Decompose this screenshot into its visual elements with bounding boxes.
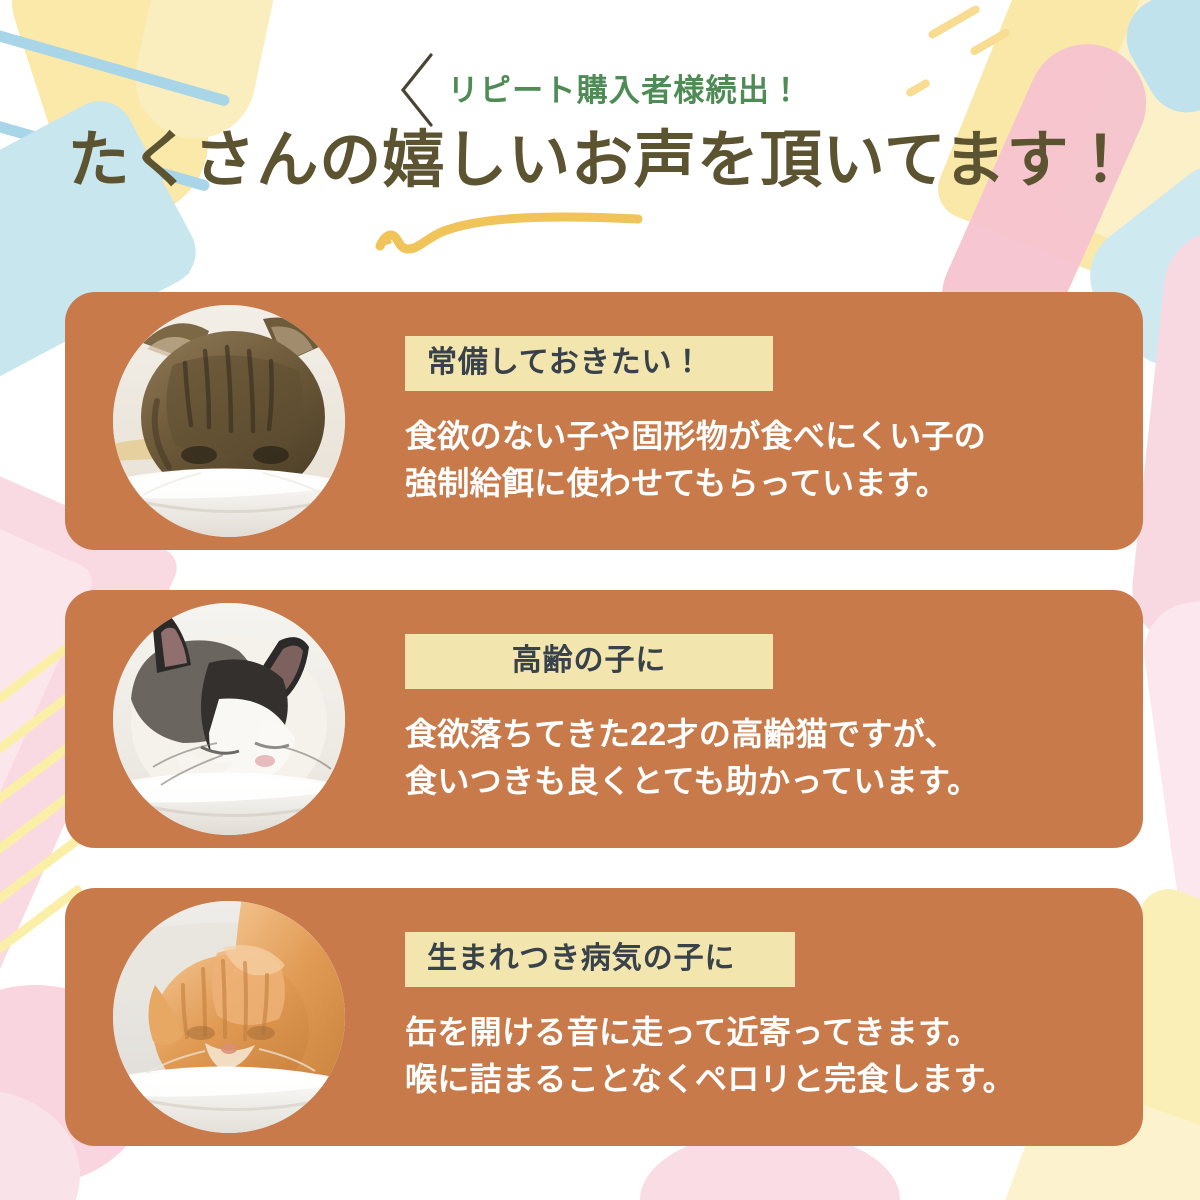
brown-tabby-cat-image — [113, 305, 345, 537]
testimonial-text-line: 食いつきも良くとても助かっています。 — [405, 758, 1103, 805]
testimonial-text: 缶を開ける音に走って近寄ってきます。 喉に詰まることなくペロリと完食します。 — [405, 1009, 1103, 1102]
testimonial-card: 高齢の子に 食欲落ちてきた22才の高齢猫ですが、 食いつきも良くとても助かってい… — [65, 590, 1143, 848]
orange-tabby-cat-image — [113, 901, 345, 1133]
testimonial-text-line: 食欲落ちてきた22才の高齢猫ですが、 — [405, 711, 1103, 758]
testimonial-badge: 生まれつき病気の子に — [405, 932, 795, 988]
testimonial-text: 食欲のない子や固形物が食べにくい子の 強制給餌に使わせてもらっています。 — [405, 413, 1103, 506]
testimonial-badge: 高齢の子に — [405, 634, 773, 690]
testimonial-text-line: 強制給餌に使わせてもらっています。 — [405, 460, 1103, 507]
cat-photo-black-and-white — [113, 603, 345, 835]
black-and-white-cat-image — [113, 603, 345, 835]
testimonial-text-line: 缶を開ける音に走って近寄ってきます。 — [405, 1009, 1103, 1056]
cat-photo-orange-tabby — [113, 901, 345, 1133]
testimonial-body: 常備しておきたい！ 食欲のない子や固形物が食べにくい子の 強制給餌に使わせてもら… — [405, 336, 1143, 507]
testimonial-page: リピート購入者様続出！ たくさんの嬉しいお声を頂いてます！ — [0, 0, 1200, 1200]
testimonial-text: 食欲落ちてきた22才の高齢猫ですが、 食いつきも良くとても助かっています。 — [405, 711, 1103, 804]
testimonial-card-list: 常備しておきたい！ 食欲のない子や固形物が食べにくい子の 強制給餌に使わせてもら… — [0, 0, 1200, 1200]
testimonial-text-line: 食欲のない子や固形物が食べにくい子の — [405, 413, 1103, 460]
cat-photo-brown-tabby — [113, 305, 345, 537]
testimonial-body: 生まれつき病気の子に 缶を開ける音に走って近寄ってきます。 喉に詰まることなくペ… — [405, 932, 1143, 1103]
testimonial-card: 常備しておきたい！ 食欲のない子や固形物が食べにくい子の 強制給餌に使わせてもら… — [65, 292, 1143, 550]
testimonial-body: 高齢の子に 食欲落ちてきた22才の高齢猫ですが、 食いつきも良くとても助かってい… — [405, 634, 1143, 805]
testimonial-text-line: 喉に詰まることなくペロリと完食します。 — [405, 1056, 1103, 1103]
testimonial-badge: 常備しておきたい！ — [405, 336, 773, 392]
testimonial-card: 生まれつき病気の子に 缶を開ける音に走って近寄ってきます。 喉に詰まることなくペ… — [65, 888, 1143, 1146]
